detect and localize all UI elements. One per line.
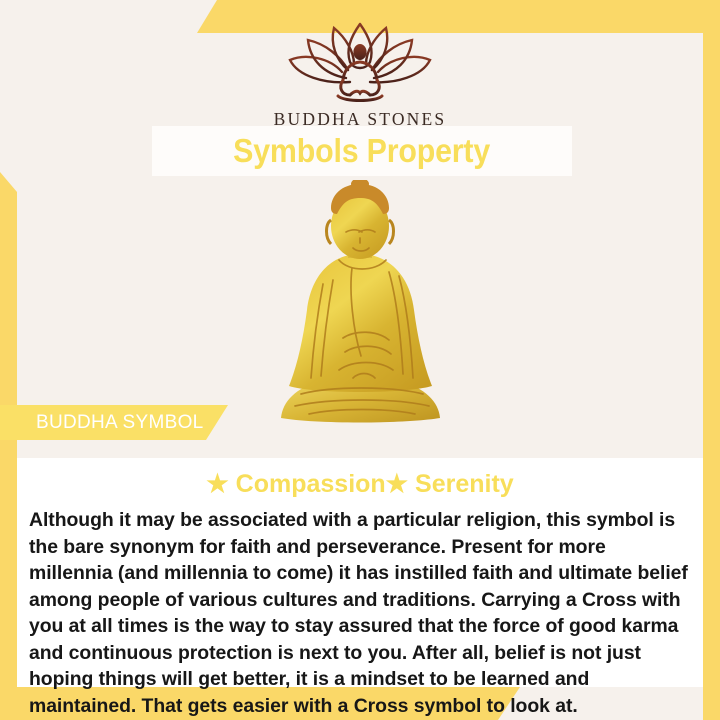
attributes-heading: ★ Compassion★ Serenity <box>17 469 703 499</box>
page-title-banner: Symbols Property <box>152 126 572 176</box>
hero-image-container <box>0 178 720 428</box>
lotus-meditation-icon <box>280 22 440 104</box>
description-paragraph: Although it may be associated with a par… <box>29 507 691 719</box>
infographic-page: BUDDHA STONES Symbols Property <box>0 0 720 720</box>
content-card: ★ Compassion★ Serenity Although it may b… <box>17 458 703 687</box>
golden-buddha-icon <box>253 180 468 428</box>
hero-tag-label: BUDDHA SYMBOL <box>36 412 204 434</box>
hero-tag-banner: BUDDHA SYMBOL <box>0 405 228 440</box>
page-title: Symbols Property <box>234 132 491 170</box>
brand-logo-block: BUDDHA STONES <box>0 22 720 130</box>
